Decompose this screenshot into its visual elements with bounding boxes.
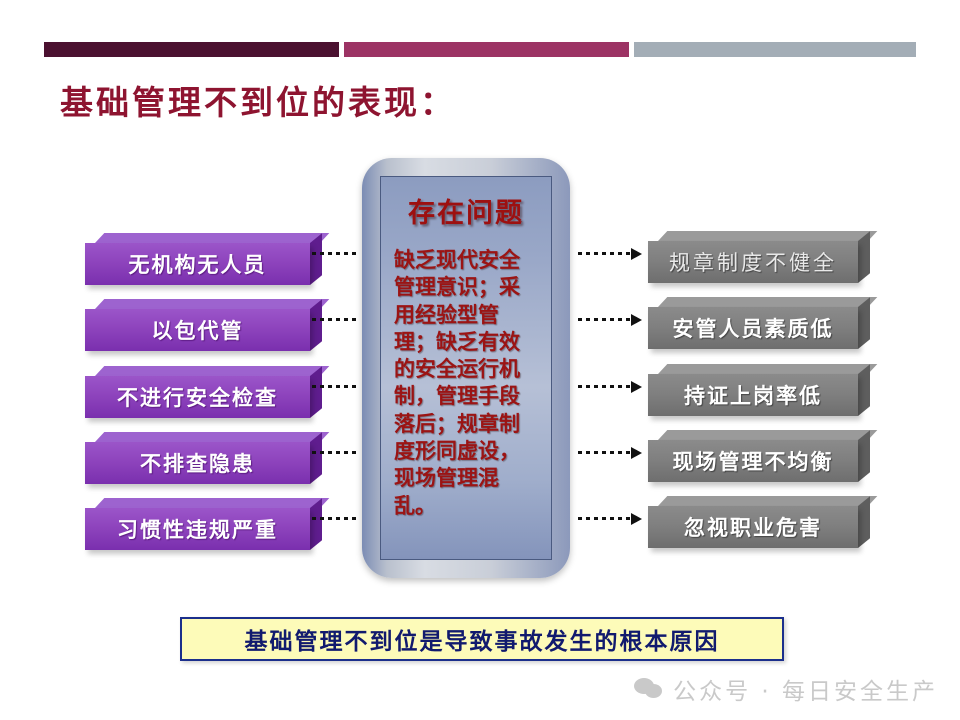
header-segment-magenta <box>344 42 629 57</box>
center-panel-heading: 存在问题 <box>381 191 551 230</box>
left-box-1[interactable]: 无机构无人员 <box>85 233 310 275</box>
box-side-face <box>310 299 322 351</box>
connector-left-3 <box>312 385 360 388</box>
right-box-label-2: 安管人员素质低 <box>648 307 858 349</box>
right-box-3[interactable]: 持证上岗率低 <box>648 364 858 406</box>
box-top-face <box>95 299 329 309</box>
right-box-4[interactable]: 现场管理不均衡 <box>648 430 858 472</box>
left-box-2[interactable]: 以包代管 <box>85 299 310 341</box>
right-box-2[interactable]: 安管人员素质低 <box>648 297 858 339</box>
box-top-face <box>658 297 877 307</box>
connector-right-4 <box>578 451 640 454</box>
right-box-label-1: 规章制度不健全 <box>648 241 858 283</box>
box-side-face <box>858 297 870 349</box>
box-side-face <box>310 498 322 550</box>
header-rule <box>44 42 916 57</box>
right-box-1[interactable]: 规章制度不健全 <box>648 231 858 273</box>
arrowhead-icon <box>631 314 642 326</box>
connector-left-4 <box>312 451 360 454</box>
slide-canvas: 基础管理不到位的表现： 无机构无人员 以包代管 不进行安全检查 不排查隐患 习惯… <box>0 0 960 720</box>
center-panel: 存在问题 缺乏现代安全管理意识；采用经验型管理；缺乏有效的安全运行机制，管理手段… <box>362 158 570 578</box>
left-box-label-2: 以包代管 <box>85 309 310 351</box>
box-top-face <box>95 366 329 376</box>
connector-left-2 <box>312 318 360 321</box>
arrowhead-icon <box>631 248 642 260</box>
box-top-face <box>95 233 329 243</box>
arrowhead-icon <box>631 447 642 459</box>
left-box-label-5: 习惯性违规严重 <box>85 508 310 550</box>
box-side-face <box>310 366 322 418</box>
header-segment-gray <box>634 42 916 57</box>
watermark: 公众号 · 每日安全生产 <box>634 672 938 706</box>
left-box-4[interactable]: 不排查隐患 <box>85 432 310 474</box>
box-side-face <box>858 231 870 283</box>
conclusion-banner-text: 基础管理不到位是导致事故发生的根本原因 <box>245 622 720 656</box>
page-title: 基础管理不到位的表现： <box>60 76 456 124</box>
center-panel-body: 缺乏现代安全管理意识；采用经验型管理；缺乏有效的安全运行机制，管理手段落后；规章… <box>394 246 539 519</box>
box-top-face <box>95 432 329 442</box>
left-box-3[interactable]: 不进行安全检查 <box>85 366 310 408</box>
connector-right-5 <box>578 517 640 520</box>
left-box-label-3: 不进行安全检查 <box>85 376 310 418</box>
right-box-label-4: 现场管理不均衡 <box>648 440 858 482</box>
connector-left-5 <box>312 517 360 520</box>
box-side-face <box>858 496 870 548</box>
conclusion-banner: 基础管理不到位是导致事故发生的根本原因 <box>180 617 784 661</box>
right-box-label-3: 持证上岗率低 <box>648 374 858 416</box>
left-box-5[interactable]: 习惯性违规严重 <box>85 498 310 540</box>
connector-right-3 <box>578 385 640 388</box>
header-segment-dark <box>44 42 339 57</box>
left-box-label-1: 无机构无人员 <box>85 243 310 285</box>
arrowhead-icon <box>631 513 642 525</box>
right-box-label-5: 忽视职业危害 <box>648 506 858 548</box>
box-top-face <box>658 496 877 506</box>
right-box-5[interactable]: 忽视职业危害 <box>648 496 858 538</box>
wechat-icon <box>634 678 664 700</box>
box-side-face <box>310 233 322 285</box>
connector-left-1 <box>312 252 360 255</box>
box-top-face <box>658 364 877 374</box>
connector-right-2 <box>578 318 640 321</box>
box-side-face <box>858 364 870 416</box>
box-side-face <box>858 430 870 482</box>
box-top-face <box>95 498 329 508</box>
watermark-text: 公众号 · 每日安全生产 <box>673 672 938 706</box>
center-panel-inner: 存在问题 缺乏现代安全管理意识；采用经验型管理；缺乏有效的安全运行机制，管理手段… <box>380 176 552 560</box>
left-box-label-4: 不排查隐患 <box>85 442 310 484</box>
box-top-face <box>658 231 877 241</box>
connector-right-1 <box>578 252 640 255</box>
arrowhead-icon <box>631 381 642 393</box>
box-side-face <box>310 432 322 484</box>
box-top-face <box>658 430 877 440</box>
